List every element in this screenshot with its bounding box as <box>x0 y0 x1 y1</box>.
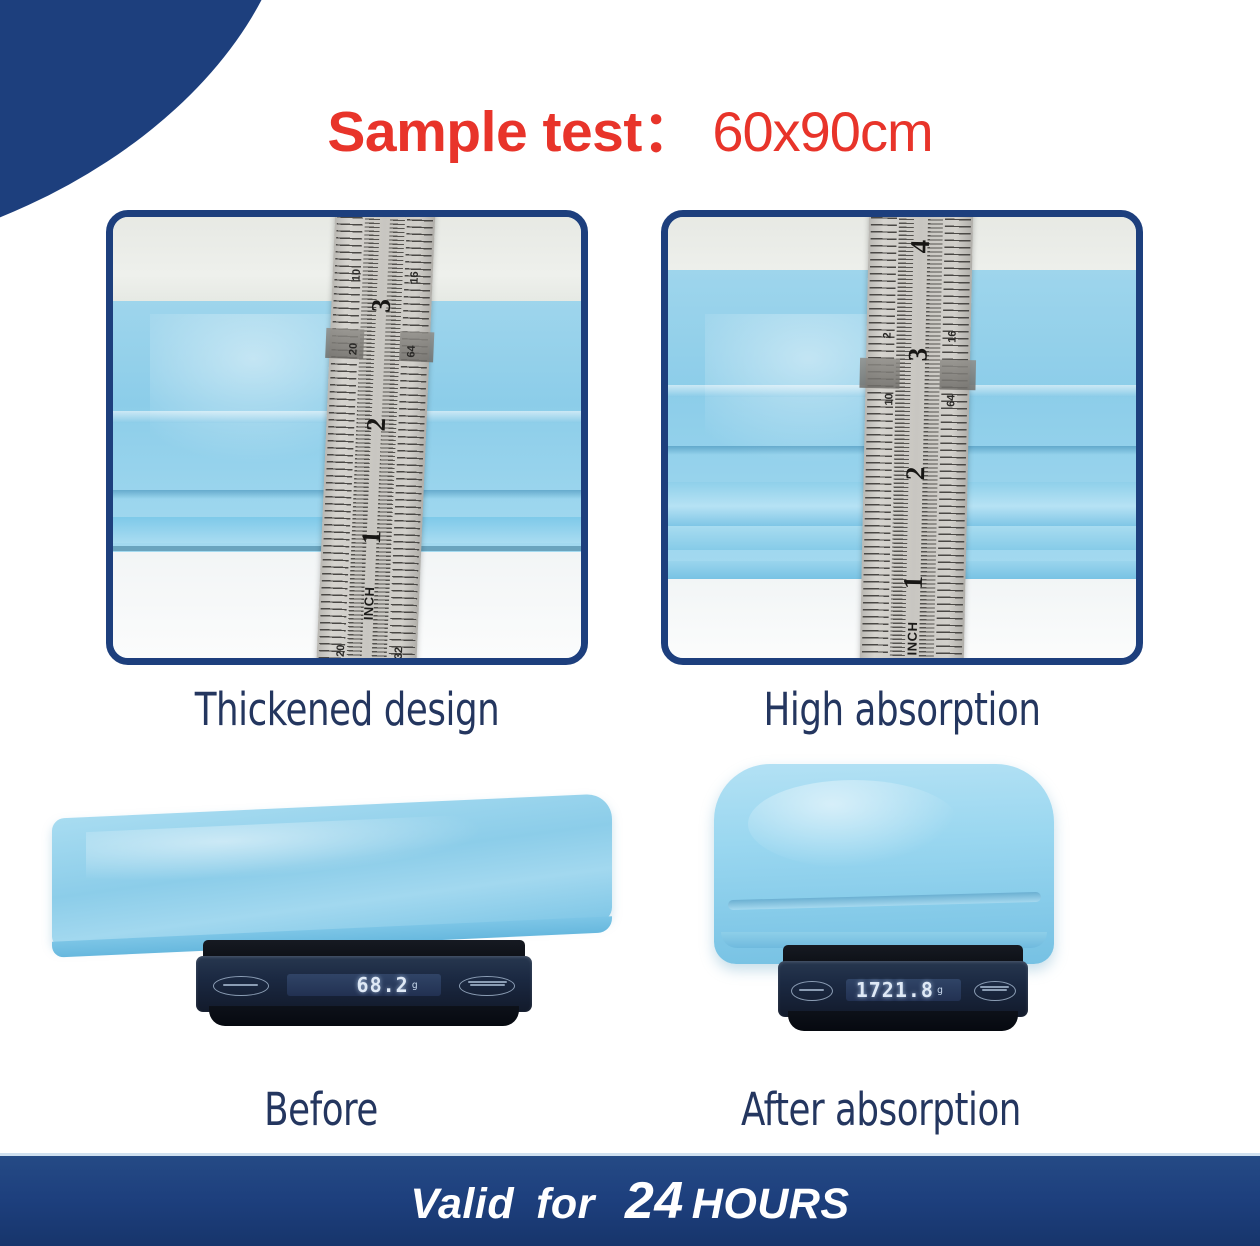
ruler-scale-10: 10 <box>351 269 364 282</box>
ruler-mark-1: 1 <box>356 530 388 545</box>
pad-highlight <box>748 780 959 868</box>
ruler-mark-3: 3 <box>366 298 398 313</box>
ruler-clamp <box>939 360 976 391</box>
scale-unit-button[interactable] <box>974 981 1016 1001</box>
title-main-text: Sample test： <box>327 100 698 164</box>
photo-card-thickened-design: 3 2 1 INCH 10 16 20 64 20 32 <box>106 210 588 665</box>
scale-weight-unit: g <box>412 980 418 991</box>
scale-weight-value: 68.2 <box>357 973 409 997</box>
ruler-unit-label: INCH <box>904 621 920 655</box>
scale-base <box>788 1011 1018 1031</box>
pad-highlight <box>86 815 478 884</box>
scale-tare-button[interactable] <box>791 981 833 1001</box>
scale-weight-unit: g <box>937 985 943 996</box>
weigh-scene-before: 68.2 g <box>18 790 638 1070</box>
title-size-text: 60x90cm <box>712 100 932 163</box>
kitchen-scale-after: 1721.8 g <box>778 955 1028 1035</box>
scale-lcd-display: 68.2 g <box>287 974 442 996</box>
ruler-clamp <box>859 358 900 389</box>
ruler-mark-2: 2 <box>361 417 393 432</box>
banner-connector: for <box>536 1180 595 1228</box>
scale-weight-value: 1721.8 <box>856 978 934 1002</box>
scale-body: 1721.8 g <box>778 961 1028 1017</box>
pad-puffy-after <box>714 764 1054 964</box>
ruler-scale-16: 16 <box>408 271 421 284</box>
scale-button-glyph <box>799 989 825 991</box>
photo-card-high-absorption: 4 3 2 1 INCH 2 16 10 64 20 32 <box>661 210 1143 665</box>
banner-suffix: HOURS <box>692 1180 850 1228</box>
weigh-scene-after: 1721.8 g <box>690 760 1110 1070</box>
banner-prefix: Valid <box>410 1180 514 1228</box>
ruler-mark-3: 3 <box>903 348 934 362</box>
ruler-scale-20: 20 <box>347 343 360 356</box>
bottom-banner: Validfor24HOURS <box>0 1153 1260 1246</box>
ruler-scale-10: 10 <box>883 393 895 405</box>
scale-button-glyph <box>468 981 507 983</box>
ruler-scale-16: 16 <box>946 330 958 342</box>
photo-high-absorption: 4 3 2 1 INCH 2 16 10 64 20 32 <box>668 217 1136 658</box>
scale-base <box>209 1006 518 1026</box>
ruler-scale-20-lower: 20 <box>335 644 348 657</box>
ruler-scale-2: 2 <box>882 332 894 338</box>
caption-thickened-design: Thickened design <box>135 683 559 736</box>
pad-flat-before <box>52 793 612 946</box>
scale-tare-button[interactable] <box>213 976 269 996</box>
ruler-icon: 4 3 2 1 INCH 2 16 10 64 20 32 <box>859 217 973 658</box>
ruler-icon: 3 2 1 INCH 10 16 20 64 20 32 <box>315 217 436 658</box>
caption-after-absorption: After absorption <box>669 1083 1093 1136</box>
ruler-scale-64: 64 <box>405 345 418 358</box>
page-title: Sample test：60x90cm <box>0 86 1260 168</box>
photo-thickened-design: 3 2 1 INCH 10 16 20 64 20 32 <box>113 217 581 658</box>
scale-button-glyph <box>982 989 1008 991</box>
kitchen-scale-before: 68.2 g <box>196 950 532 1034</box>
ruler-unit-label: INCH <box>361 586 377 620</box>
scale-body: 68.2 g <box>196 956 532 1012</box>
pad-seam <box>728 892 1041 910</box>
scale-button-glyph <box>980 986 1009 988</box>
scale-button-glyph <box>223 984 257 986</box>
ruler-scale-64: 64 <box>945 394 957 406</box>
scale-unit-button[interactable] <box>459 976 515 996</box>
ruler-mark-1: 1 <box>898 575 929 589</box>
ruler-mark-4: 4 <box>905 239 936 253</box>
caption-high-absorption: High absorption <box>690 683 1114 736</box>
banner-text: Validfor24HOURS <box>410 1171 849 1231</box>
ruler-scale-32: 32 <box>392 646 405 658</box>
scale-button-glyph <box>470 984 504 986</box>
banner-number: 24 <box>625 1172 684 1230</box>
ruler-mark-2: 2 <box>900 466 931 480</box>
scale-lcd-display: 1721.8 g <box>846 979 961 1001</box>
caption-before: Before <box>109 1083 533 1136</box>
